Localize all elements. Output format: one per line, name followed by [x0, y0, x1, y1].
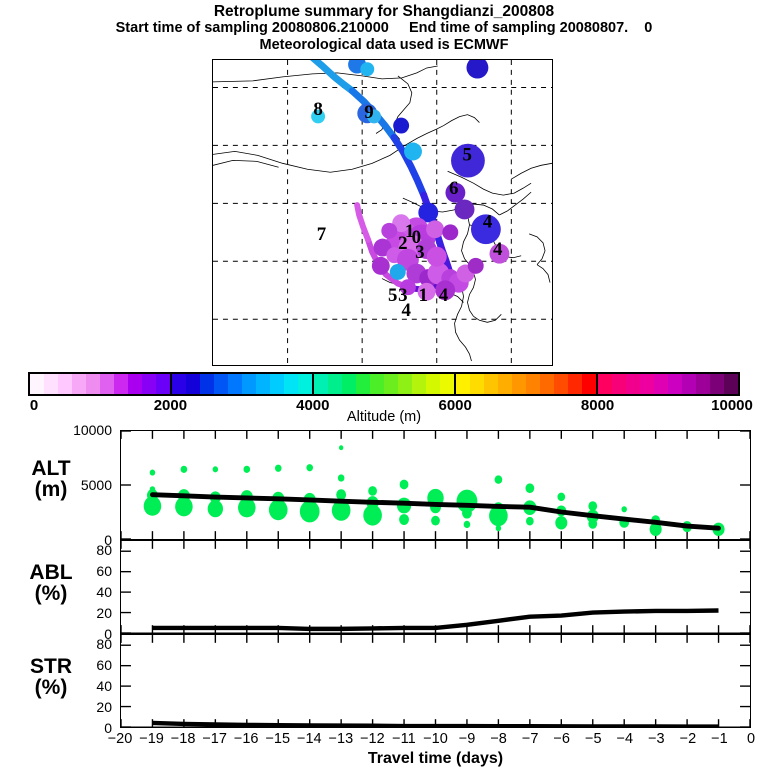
- abl-chart[interactable]: [120, 540, 751, 634]
- colorbar-swatch: [498, 374, 512, 394]
- colorbar-swatch: [640, 374, 654, 394]
- colorbar-swatch: [356, 374, 370, 394]
- x-axis-tick-label: −3: [648, 731, 665, 747]
- svg-text:4: 4: [493, 239, 503, 260]
- y-axis-tick-label: 5000: [68, 477, 112, 493]
- colorbar-swatch: [626, 374, 640, 394]
- x-axis-tick-label: −13: [329, 731, 354, 747]
- colorbar-swatch: [654, 374, 668, 394]
- alt-panel-label-line1: ALT: [8, 458, 94, 479]
- colorbar-swatch: [200, 374, 214, 394]
- colorbar-swatch: [596, 374, 612, 394]
- x-axis-tick-label: −20: [108, 731, 133, 747]
- colorbar-swatch: [554, 374, 568, 394]
- colorbar-swatch: [100, 374, 114, 394]
- svg-text:1: 1: [418, 285, 427, 306]
- colorbar-swatch: [470, 374, 484, 394]
- colorbar-swatch: [312, 374, 328, 394]
- colorbar-swatch: [696, 374, 710, 394]
- altitude-colorbar[interactable]: [28, 372, 740, 396]
- colorbar-swatch: [142, 374, 156, 394]
- colorbar-swatch: [284, 374, 298, 394]
- str-chart-canvas: [121, 635, 750, 727]
- colorbar-swatch: [512, 374, 526, 394]
- colorbar-swatch: [440, 374, 454, 394]
- svg-text:6: 6: [449, 178, 458, 199]
- colorbar-swatch: [256, 374, 270, 394]
- x-axis-tick-label: −9: [459, 731, 476, 747]
- colorbar-swatch: [58, 374, 72, 394]
- x-axis-tick-label: −19: [139, 731, 164, 747]
- colorbar-swatch: [328, 374, 342, 394]
- svg-text:8: 8: [313, 99, 322, 120]
- x-axis-tick-label: −7: [522, 731, 539, 747]
- y-axis-tick-label: 60: [68, 563, 112, 579]
- svg-text:7: 7: [317, 224, 326, 245]
- colorbar-swatch: [412, 374, 426, 394]
- svg-text:5: 5: [388, 285, 397, 306]
- colorbar-swatch: [342, 374, 356, 394]
- colorbar-swatch: [612, 374, 626, 394]
- y-axis-tick-label: 40: [68, 584, 112, 600]
- colorbar-swatch: [114, 374, 128, 394]
- x-axis-tick-label: −12: [360, 731, 385, 747]
- colorbar-swatch: [228, 374, 242, 394]
- svg-text:9: 9: [364, 102, 373, 123]
- abl-chart-canvas: [121, 541, 750, 633]
- map-gridlines: [213, 60, 552, 365]
- svg-text:4: 4: [402, 300, 412, 321]
- colorbar-swatch: [44, 374, 58, 394]
- colorbar-swatch: [398, 374, 412, 394]
- map-canvas: 8975644102353144: [213, 60, 552, 365]
- x-axis-tick-label: −5: [585, 731, 602, 747]
- y-axis-tick-label: 20: [68, 699, 112, 715]
- svg-text:4: 4: [483, 212, 493, 233]
- colorbar-swatch: [426, 374, 440, 394]
- x-axis-tick-label: −4: [617, 731, 634, 747]
- svg-text:5: 5: [463, 145, 472, 166]
- colorbar-swatch: [724, 374, 738, 394]
- svg-text:2: 2: [398, 233, 407, 254]
- colorbar-swatch: [170, 374, 186, 394]
- coastline-outlines: [213, 66, 552, 361]
- y-axis-tick-label: 40: [68, 678, 112, 694]
- x-axis-title: Travel time (days): [120, 750, 751, 768]
- x-axis-tick-label: −8: [490, 731, 507, 747]
- colorbar-swatch: [298, 374, 312, 394]
- colorbar-swatch: [242, 374, 256, 394]
- colorbar-swatch: [682, 374, 696, 394]
- svg-text:3: 3: [415, 242, 424, 263]
- page-header: Retroplume summary for Shangdianzi_20080…: [0, 0, 768, 54]
- x-axis-tick-label: −6: [553, 731, 570, 747]
- colorbar-swatch: [72, 374, 86, 394]
- colorbar-swatch: [186, 374, 200, 394]
- x-axis-tick-labels: −20−19−18−17−16−15−14−13−12−11−10−9−8−7−…: [0, 731, 768, 751]
- colorbar-swatch: [484, 374, 498, 394]
- retroplume-map[interactable]: 8975644102353144: [212, 59, 553, 366]
- colorbar-swatch: [128, 374, 142, 394]
- x-axis-tick-label: −2: [680, 731, 697, 747]
- meteorological-data-line: Meteorological data used is ECMWF: [0, 37, 768, 54]
- colorbar-swatch: [540, 374, 554, 394]
- str-chart[interactable]: [120, 634, 751, 728]
- alt-chart[interactable]: [120, 430, 751, 540]
- y-axis-tick-label: 20: [68, 605, 112, 621]
- colorbar-swatch: [270, 374, 284, 394]
- colorbar-swatch: [568, 374, 582, 394]
- x-axis-tick-label: −10: [423, 731, 448, 747]
- colorbar-swatch: [668, 374, 682, 394]
- colorbar-swatch: [582, 374, 596, 394]
- x-axis-tick-label: −18: [171, 731, 196, 747]
- y-axis-tick-label: 60: [68, 657, 112, 673]
- colorbar-swatch: [710, 374, 724, 394]
- x-axis-tick-label: −16: [234, 731, 259, 747]
- colorbar-swatch: [370, 374, 384, 394]
- colorbar-swatch: [526, 374, 540, 394]
- x-axis-tick-label: −1: [711, 731, 728, 747]
- colorbar-title: Altitude (m): [28, 409, 740, 425]
- y-axis-tick-label: 80: [68, 542, 112, 558]
- alt-chart-canvas: [121, 431, 750, 539]
- colorbar-swatch: [86, 374, 100, 394]
- colorbar-swatch: [214, 374, 228, 394]
- y-axis-tick-label: 10000: [68, 422, 112, 438]
- x-axis-tick-label: −15: [265, 731, 290, 747]
- colorbar-swatch: [156, 374, 170, 394]
- colorbar-swatch: [454, 374, 470, 394]
- x-axis-tick-label: 0: [747, 731, 755, 747]
- colorbar-swatch: [384, 374, 398, 394]
- page-title: Retroplume summary for Shangdianzi_20080…: [0, 0, 768, 20]
- sampling-time-line: Start time of sampling 20080806.210000 E…: [0, 20, 768, 37]
- x-axis-tick-label: −17: [202, 731, 227, 747]
- svg-text:4: 4: [439, 285, 449, 306]
- altitude-markers: [311, 60, 509, 301]
- x-axis-tick-label: −11: [392, 731, 416, 747]
- x-axis-tick-label: −14: [297, 731, 322, 747]
- colorbar-swatch: [30, 374, 44, 394]
- y-axis-tick-label: 80: [68, 636, 112, 652]
